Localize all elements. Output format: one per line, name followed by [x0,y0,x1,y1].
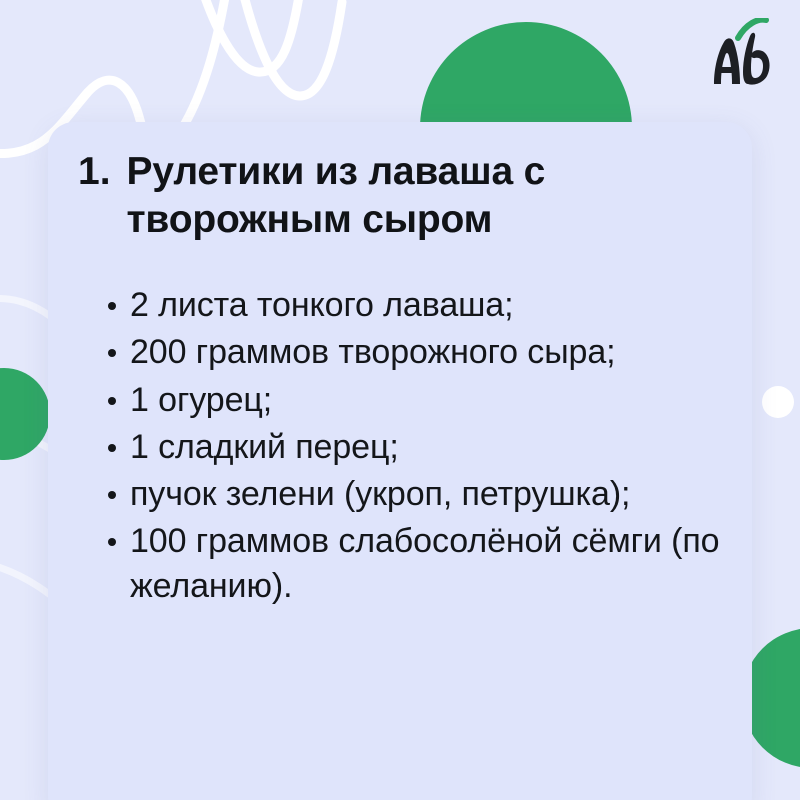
ingredient-text: 200 граммов творожного сыра; [130,333,616,371]
bullet-icon [108,349,116,357]
recipe-card: 1. Рулетики из лаваша с творожным сыром … [48,122,752,800]
ingredient-item: 1 огурец; [78,378,722,423]
bullet-icon [108,538,116,546]
bullet-icon [108,444,116,452]
green-circle-left [0,368,50,460]
ingredient-item: 1 сладкий перец; [78,425,722,470]
ingredient-text: 2 листа тонкого лаваша; [130,286,513,324]
ingredient-item: 200 граммов творожного сыра; [78,330,722,375]
recipe-number: 1. [78,148,111,196]
recipe-poster: 1. Рулетики из лаваша с творожным сыром … [0,0,800,800]
white-dot-right [762,386,794,418]
ingredients-list: 2 листа тонкого лаваша; 200 граммов твор… [78,283,722,610]
logo-artwork [692,18,778,94]
ingredient-text: 1 сладкий перец; [130,428,399,466]
ab-monogram-logo [692,18,778,94]
ingredient-text: пучок зелени (укроп, петрушка); [130,475,630,513]
white-dot-left [0,390,26,436]
bullet-icon [108,491,116,499]
recipe-title-row: 1. Рулетики из лаваша с творожным сыром [78,148,722,243]
recipe-title: Рулетики из лаваша с творожным сыром [127,148,722,243]
ingredient-text: 100 граммов слабосолёной сёмги (по желан… [130,522,719,605]
ingredient-text: 1 огурец; [130,381,272,419]
ingredient-item: 100 граммов слабосолёной сёмги (по желан… [78,519,722,609]
bullet-icon [108,302,116,310]
ingredient-item: 2 листа тонкого лаваша; [78,283,722,328]
bullet-icon [108,397,116,405]
ingredient-item: пучок зелени (укроп, петрушка); [78,472,722,517]
